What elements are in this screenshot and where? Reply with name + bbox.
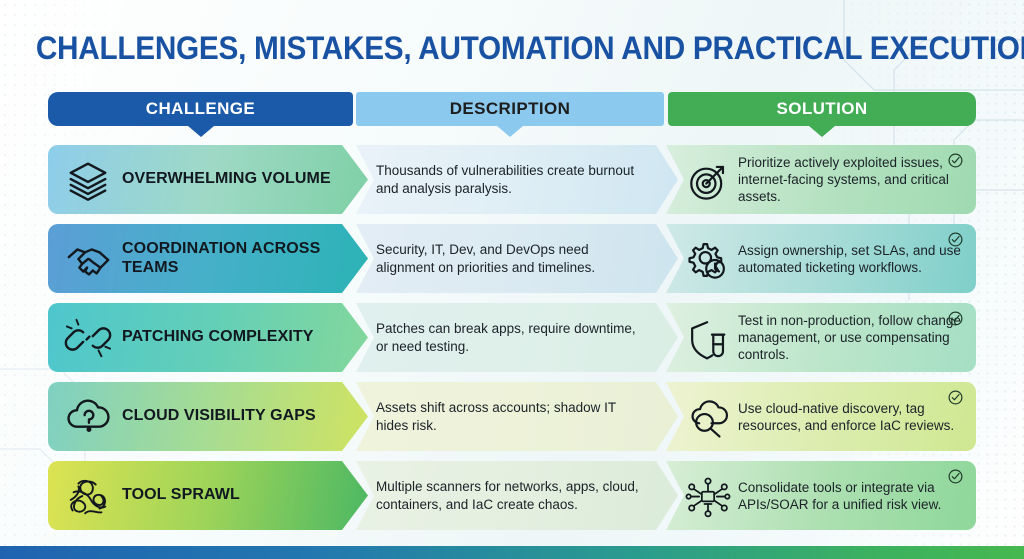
description-text: Security, IT, Dev, and DevOps need align… <box>376 241 650 276</box>
description-cell[interactable]: Patches can break apps, require downtime… <box>356 303 678 372</box>
table-row: COORDINATION ACROSS TEAMSSecurity, IT, D… <box>0 224 1024 293</box>
description-cell[interactable]: Multiple scanners for networks, apps, cl… <box>356 461 678 530</box>
header-solution-label: SOLUTION <box>776 99 867 119</box>
table-row: CLOUD VISIBILITY GAPSAssets shift across… <box>0 382 1024 451</box>
gear-clock-icon <box>686 238 730 280</box>
cloud-search-icon <box>686 396 730 438</box>
solution-text: Prioritize actively exploited issues, in… <box>738 154 976 205</box>
column-headers: CHALLENGE DESCRIPTION SOLUTION <box>0 92 1024 136</box>
comparison-table-rows: OVERWHELMING VOLUMEThousands of vulnerab… <box>0 145 1024 540</box>
solution-text: Assign ownership, set SLAs, and use auto… <box>738 242 976 276</box>
header-description-pointer-icon <box>497 126 523 137</box>
description-text: Patches can break apps, require downtime… <box>376 320 650 355</box>
table-row: PATCHING COMPLEXITYPatches can break app… <box>0 303 1024 372</box>
challenge-cell[interactable]: CLOUD VISIBILITY GAPS <box>48 382 368 451</box>
shield-test-tube-icon <box>686 317 730 359</box>
challenge-label: OVERWHELMING VOLUME <box>122 170 331 188</box>
description-text: Thousands of vulnerabilities create burn… <box>376 162 650 197</box>
check-circle-icon <box>947 389 964 406</box>
challenge-cell[interactable]: OVERWHELMING VOLUME <box>48 145 368 214</box>
description-cell[interactable]: Assets shift across accounts; shadow IT … <box>356 382 678 451</box>
solution-cell[interactable]: Consolidate tools or integrate via APIs/… <box>666 461 976 530</box>
cloud-question-icon <box>64 394 112 440</box>
header-solution: SOLUTION <box>668 92 976 126</box>
challenge-label: COORDINATION ACROSS TEAMS <box>122 240 368 276</box>
solution-cell[interactable]: Test in non-production, follow change ma… <box>666 303 976 372</box>
header-challenge: CHALLENGE <box>48 92 353 126</box>
challenge-cell[interactable]: TOOL SPRAWL <box>48 461 368 530</box>
header-description-label: DESCRIPTION <box>450 99 571 119</box>
solution-cell[interactable]: Prioritize actively exploited issues, in… <box>666 145 976 214</box>
description-text: Multiple scanners for networks, apps, cl… <box>376 478 650 513</box>
challenge-cell[interactable]: COORDINATION ACROSS TEAMS <box>48 224 368 293</box>
check-circle-icon <box>947 310 964 327</box>
broken-chain-icon <box>64 315 112 361</box>
check-circle-icon <box>947 468 964 485</box>
challenge-cell[interactable]: PATCHING COMPLEXITY <box>48 303 368 372</box>
solution-cell[interactable]: Use cloud-native discovery, tag resource… <box>666 382 976 451</box>
infographic-canvas: CHALLENGES, MISTAKES, AUTOMATION AND PRA… <box>0 0 1024 559</box>
check-circle-icon <box>947 152 964 169</box>
bottom-accent-bar <box>0 546 1024 559</box>
target-dartboard-icon <box>686 159 730 201</box>
header-description: DESCRIPTION <box>356 92 664 126</box>
header-challenge-pointer-icon <box>188 126 214 137</box>
page-title: CHALLENGES, MISTAKES, AUTOMATION AND PRA… <box>36 30 988 67</box>
solution-text: Consolidate tools or integrate via APIs/… <box>738 479 976 513</box>
challenge-label: PATCHING COMPLEXITY <box>122 328 314 346</box>
stacked-layers-icon <box>64 157 112 203</box>
header-challenge-label: CHALLENGE <box>146 99 255 119</box>
table-row: TOOL SPRAWLMultiple scanners for network… <box>0 461 1024 530</box>
header-solution-pointer-icon <box>809 126 835 137</box>
challenge-label: CLOUD VISIBILITY GAPS <box>122 407 316 425</box>
challenge-label: TOOL SPRAWL <box>122 486 240 504</box>
description-text: Assets shift across accounts; shadow IT … <box>376 399 650 434</box>
table-row: OVERWHELMING VOLUMEThousands of vulnerab… <box>0 145 1024 214</box>
solution-text: Use cloud-native discovery, tag resource… <box>738 400 976 434</box>
solution-cell[interactable]: Assign ownership, set SLAs, and use auto… <box>666 224 976 293</box>
description-cell[interactable]: Security, IT, Dev, and DevOps need align… <box>356 224 678 293</box>
solution-text: Test in non-production, follow change ma… <box>738 312 976 363</box>
tangled-knot-icon <box>64 473 112 519</box>
check-circle-icon <box>947 231 964 248</box>
network-hub-icon <box>686 475 730 517</box>
handshake-icon <box>64 236 112 282</box>
description-cell[interactable]: Thousands of vulnerabilities create burn… <box>356 145 678 214</box>
